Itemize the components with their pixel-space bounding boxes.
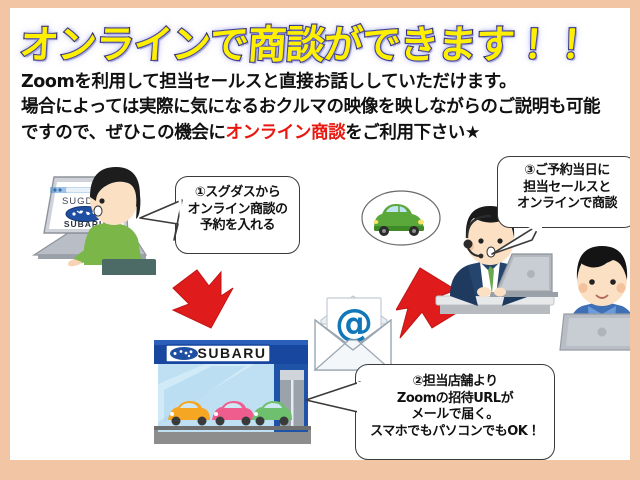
page-title: オンラインで商談ができます！！ bbox=[18, 14, 592, 70]
lead-line-1: Zoomを利用して担当セールスと直接お話ししていただけます。 bbox=[21, 70, 630, 95]
bubble-step-1-line-3: 予約を入れる bbox=[176, 218, 299, 235]
lead-line-3-before: ですので、ぜひこの機会に bbox=[21, 123, 226, 143]
green-car-icon bbox=[360, 186, 442, 258]
poster-root: オンラインで商談ができます！！ Zoomを利用して担当セールスと直接お話ししてい… bbox=[0, 0, 640, 480]
shop-sign-text: SUBARU bbox=[198, 345, 267, 361]
bubble-step-1-line-1: ①スグダスから bbox=[176, 185, 299, 202]
bubble-step-2-tail bbox=[302, 380, 364, 426]
bubble-step-1: ①スグダスから オンライン商談の 予約を入れる bbox=[175, 176, 300, 254]
bubble-step-2-line-2: Zoomの招待URLが bbox=[356, 391, 554, 408]
bubble-step-1-tail bbox=[138, 194, 184, 242]
lead-line-3-after: をご利用下さい★ bbox=[345, 123, 480, 143]
bubble-step-1-line-2: オンライン商談の bbox=[176, 202, 299, 219]
bubble-step-3-line-1: ③ご予約当日に bbox=[498, 163, 630, 180]
bubble-step-3-tail bbox=[488, 220, 544, 260]
person-at-laptop-icon: SUGDAS SUBARU bbox=[28, 163, 156, 275]
bubble-step-3-line-3: オンラインで商談 bbox=[498, 196, 630, 213]
poster-sheet: オンラインで商談ができます！！ Zoomを利用して担当セールスと直接お話ししてい… bbox=[10, 8, 630, 460]
bubble-step-2-line-3: メールで届く。 bbox=[356, 407, 554, 424]
bubble-step-2: ②担当店舗より Zoomの招待URLが メールで届く。 スマホでもパソコンでもO… bbox=[355, 364, 555, 460]
bubble-step-3: ③ご予約当日に 担当セールスと オンラインで商談 bbox=[497, 156, 630, 228]
bubble-step-2-line-4: スマホでもパソコンでもOK！ bbox=[356, 424, 554, 441]
lead-highlight-online-shodan: オンライン商談 bbox=[226, 123, 346, 143]
lead-line-3: ですので、ぜひこの機会にオンライン商談をご利用下さい★ bbox=[21, 121, 630, 146]
bubble-step-2-line-1: ②担当店舗より bbox=[356, 374, 554, 391]
bubble-step-3-line-2: 担当セールスと bbox=[498, 180, 630, 197]
customer-laptop-icon bbox=[558, 236, 630, 352]
subaru-dealership-icon: SUBARU bbox=[150, 326, 315, 456]
red-arrow-down-icon bbox=[165, 266, 235, 338]
lead-paragraph: Zoomを利用して担当セールスと直接お話ししていただけます。 場合によっては実際… bbox=[21, 70, 630, 146]
lead-line-2: 場合によっては実際に気になるおクルマの映像を映しながらのご説明も可能 bbox=[21, 95, 630, 120]
